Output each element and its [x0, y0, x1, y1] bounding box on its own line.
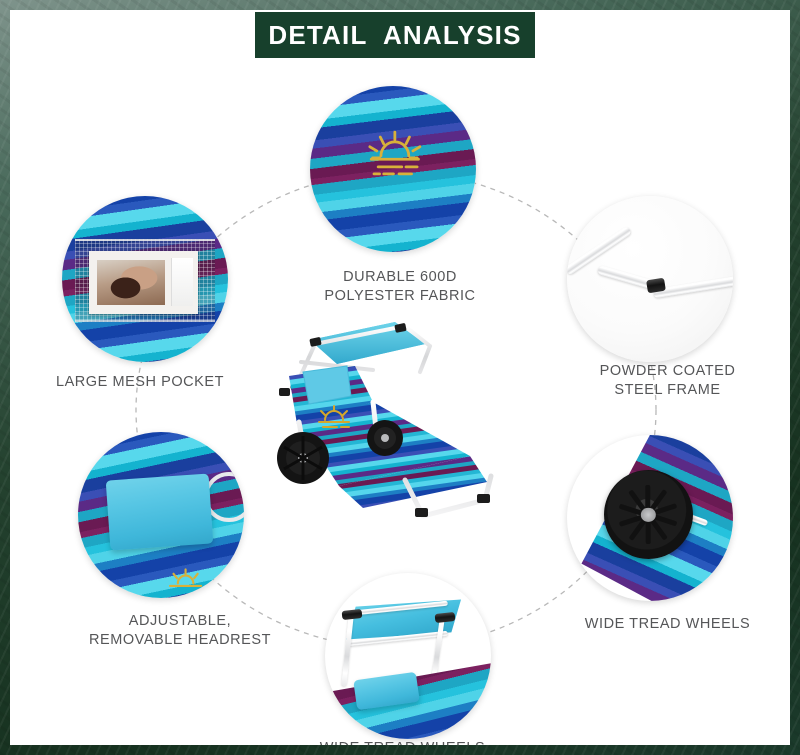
- feature-image-mesh-pocket[interactable]: [62, 196, 228, 362]
- magazine-in-pocket: [89, 251, 199, 314]
- headrest-pillow: [106, 473, 214, 550]
- feature-caption-durable-fabric: DURABLE 600D POLYESTER FABRIC: [300, 268, 500, 306]
- sun-logo-icon: [164, 565, 207, 598]
- feature-caption-steel-frame: POWDER COATED STEEL FRAME: [555, 362, 780, 400]
- feature-image-headrest[interactable]: [78, 432, 244, 598]
- feature-image-steel-frame[interactable]: [567, 196, 733, 362]
- product-wheel-front: [277, 432, 329, 484]
- feature-caption-headrest: ADJUSTABLE, REMOVABLE HEADREST: [65, 612, 295, 650]
- headrest-photo: [78, 432, 244, 598]
- feature-caption-wheels-right: WIDE TREAD WHEELS: [555, 615, 780, 634]
- steel-tube-photo: [567, 196, 733, 362]
- frame-joint: [646, 278, 666, 294]
- sun-logo-icon: [360, 128, 430, 188]
- title-banner: DETAIL ANALYSIS: [255, 12, 535, 58]
- feature-image-canopy[interactable]: [325, 573, 491, 739]
- feature-image-wheels-right[interactable]: [567, 435, 733, 601]
- product-wheel-rear: [367, 420, 403, 456]
- feature-caption-canopy: WIDE TREAD WHEELS: [300, 739, 505, 745]
- center-product-image[interactable]: [255, 310, 545, 540]
- feature-image-durable-fabric[interactable]: [310, 86, 476, 252]
- wheel-tire: [604, 470, 694, 560]
- canopy-photo: [325, 573, 491, 739]
- page-title: DETAIL ANALYSIS: [268, 20, 521, 51]
- feature-caption-mesh-pocket: LARGE MESH POCKET: [25, 373, 255, 392]
- fabric-swatch: [310, 86, 476, 252]
- wheel-photo: [567, 435, 733, 601]
- mesh-pocket-photo: [62, 196, 228, 362]
- infographic-canvas: DETAIL ANALYSIS: [10, 10, 790, 745]
